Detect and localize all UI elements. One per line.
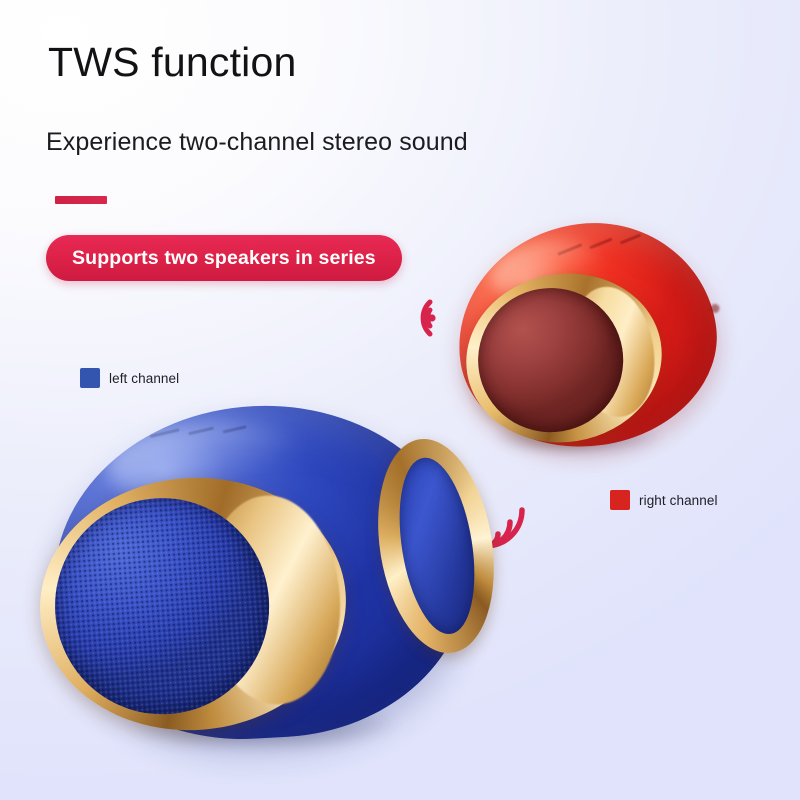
page-title: TWS function (48, 40, 296, 85)
speaker-blue-mesh-grille (48, 491, 277, 722)
product-speaker-blue (28, 392, 508, 772)
poster-canvas: TWS function Experience two-channel ster… (0, 0, 800, 800)
speaker-blue-radiator-inner (389, 453, 485, 639)
legend-swatch-blue (80, 368, 100, 388)
legend-left-channel-label: left channel (109, 371, 179, 386)
speaker-red-port (710, 303, 720, 313)
accent-dash (55, 196, 107, 204)
speaker-blue-buttons (149, 404, 282, 459)
speaker-red-buttons (556, 208, 669, 277)
page-subtitle: Experience two-channel stereo sound (46, 127, 468, 157)
feature-badge: Supports two speakers in series (46, 235, 402, 281)
legend-swatch-red (610, 490, 630, 510)
legend-left-channel: left channel (80, 368, 179, 388)
legend-right-channel-label: right channel (639, 493, 718, 508)
legend-right-channel: right channel (610, 490, 718, 510)
feature-badge-label: Supports two speakers in series (72, 247, 376, 270)
